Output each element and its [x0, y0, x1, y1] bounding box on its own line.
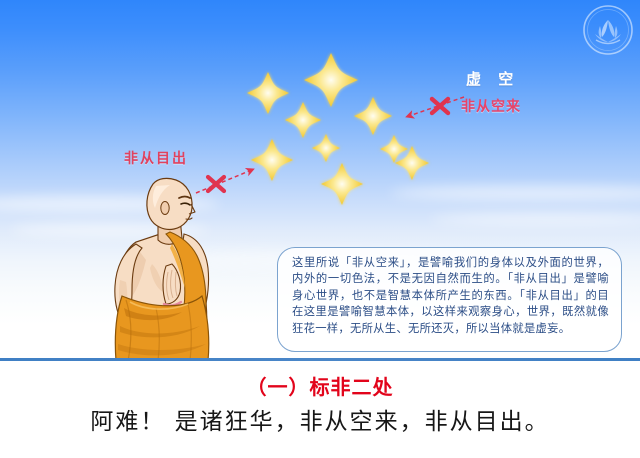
section-heading: （一）标非二处 — [0, 371, 640, 400]
explanation-callout-box: 这里所说「非从空来」，是譬喻我们的身体以及外面的世界，内外的一切色法，不是无因自… — [277, 247, 622, 352]
sutra-line: 阿难！ 是诸狂华，非从空来，非从目出。 — [0, 402, 640, 436]
caption-area: （一）标非二处 阿难！ 是诸狂华，非从空来，非从目出。 — [0, 361, 640, 458]
explanation-paragraph: 这里所说「非从空来」，是譬喻我们的身体以及外面的世界，内外的一切色法，不是无因自… — [292, 255, 609, 337]
label-fei-cong-mu-chu: 非从目出 — [124, 148, 188, 168]
arrow-to-sky — [196, 169, 254, 193]
slide-canvas: 虚 空 非从空来 非从目出 这里所说「非从空来」，是譬喻我们的身体以及外面的世界… — [0, 0, 640, 458]
label-xukong: 虚 空 — [466, 68, 519, 89]
label-fei-cong-kong-lai: 非从空来 — [461, 96, 521, 116]
arrow-from-sky — [406, 97, 464, 117]
